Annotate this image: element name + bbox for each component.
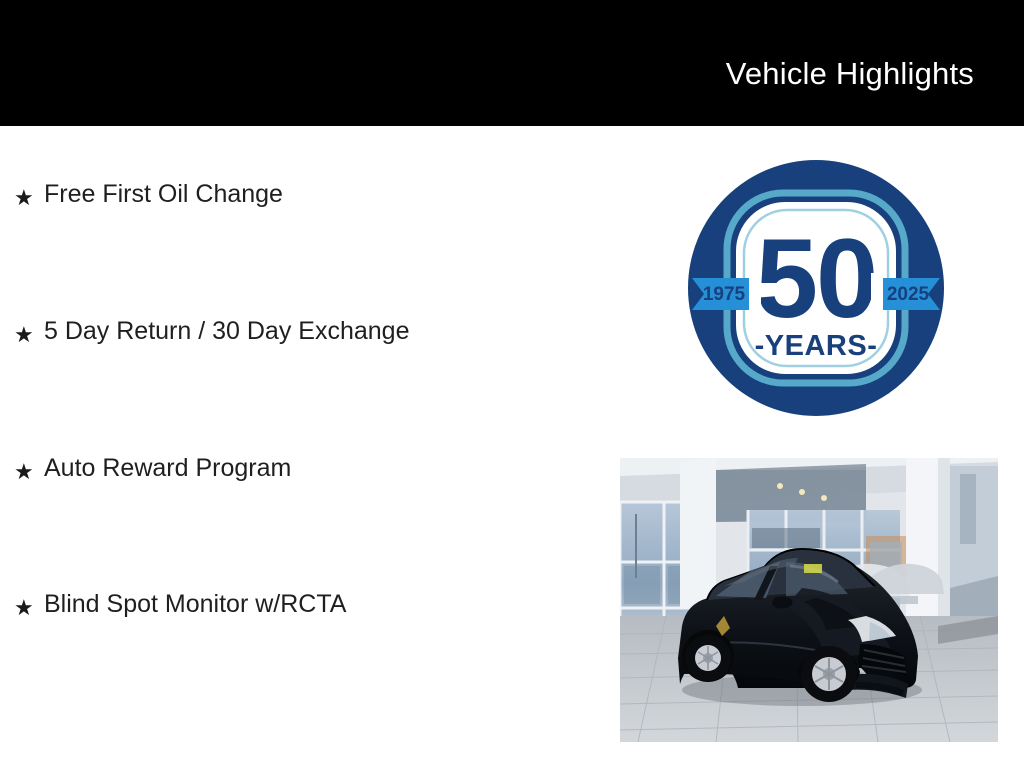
highlight-label: Free First Oil Change (44, 181, 283, 209)
badge-caption: -YEARS- (755, 330, 878, 362)
list-item: ★ Free First Oil Change (0, 181, 600, 318)
ribbon-left: 1975 (692, 273, 761, 315)
star-icon: ★ (14, 318, 44, 346)
star-icon: ★ (14, 455, 44, 483)
list-item: ★ Auto Reward Program (0, 455, 600, 592)
highlight-label: Blind Spot Monitor w/RCTA (44, 591, 346, 619)
highlight-label: Auto Reward Program (44, 455, 291, 483)
page-title: Vehicle Highlights (726, 34, 1024, 92)
header-bar: Vehicle Highlights (0, 0, 1024, 126)
badge-year-start: 1975 (703, 284, 746, 305)
highlight-label: 5 Day Return / 30 Day Exchange (44, 318, 409, 346)
list-item: ★ Blind Spot Monitor w/RCTA (0, 591, 600, 728)
list-item: ★ 5 Day Return / 30 Day Exchange (0, 318, 600, 455)
anniversary-badge-icon: 50 -YEARS- 1975 2025 (687, 159, 945, 417)
vehicle-photo (620, 458, 998, 742)
vehicle-highlights-slide: Vehicle Highlights ★ Free First Oil Chan… (0, 0, 1024, 768)
star-icon: ★ (14, 591, 44, 619)
highlights-list: ★ Free First Oil Change ★ 5 Day Return /… (0, 126, 600, 768)
star-icon: ★ (14, 181, 44, 209)
rear-wheel (682, 630, 734, 682)
badge-number: 50 (756, 216, 877, 341)
anniversary-badge: 50 -YEARS- 1975 2025 (687, 159, 945, 417)
vehicle-photo-image (620, 458, 998, 742)
badge-year-end: 2025 (887, 284, 930, 305)
